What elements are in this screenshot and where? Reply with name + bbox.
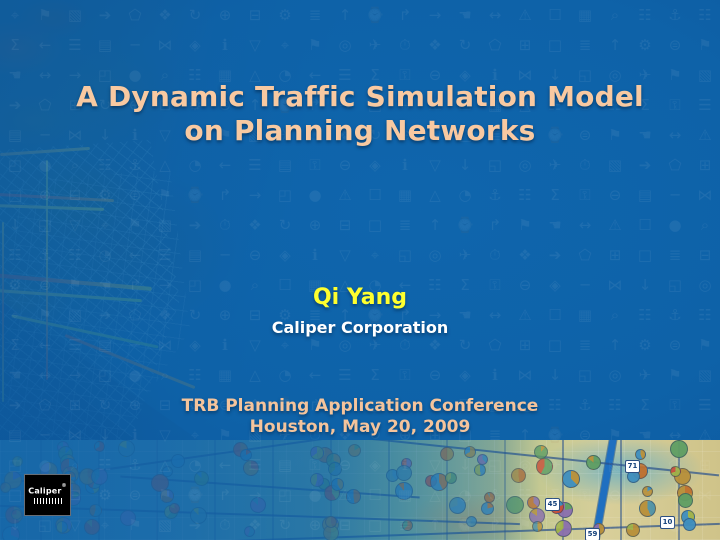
- title-line-1: A Dynamic Traffic Simulation Model: [50, 80, 670, 114]
- conference-name: TRB Planning Application Conference: [60, 396, 660, 417]
- caliper-logo: Caliper®: [24, 474, 71, 516]
- highway-shield-marker: 10: [660, 516, 675, 529]
- blue-color-wash: [0, 0, 720, 440]
- presentation-title-slide: 71451059 ⌖⚑▧➔⬠❖↻⊕⊟⚙≣↑⌚↱→☚↔⚠☐▦⌕☷⚓☷Σ←☰▤─⋈◈…: [0, 0, 720, 540]
- blue-overlay-veil: [0, 440, 540, 540]
- road-segment-vertical: [620, 440, 622, 540]
- highway-shield-marker: 59: [585, 528, 600, 540]
- caliper-ruler-mark-icon: [34, 498, 62, 504]
- conference-info: TRB Planning Application Conference Hous…: [60, 396, 660, 438]
- trademark-symbol: ®: [62, 483, 67, 489]
- page-title: A Dynamic Traffic Simulation Model on Pl…: [50, 80, 670, 148]
- highway-shield-marker: 71: [625, 460, 640, 473]
- author-affiliation: Caliper Corporation: [60, 318, 660, 337]
- zone-pie-chart-symbol: [670, 440, 688, 458]
- zone-pie-chart-symbol: [635, 449, 646, 460]
- zone-pie-chart-symbol: [555, 520, 572, 537]
- zone-pie-chart-symbol: [626, 523, 640, 537]
- caliper-wordmark: Caliper®: [28, 486, 66, 496]
- caliper-wordmark-text: Caliper: [28, 487, 61, 496]
- zone-pie-chart-symbol: [639, 500, 656, 517]
- zone-pie-chart-symbol: [562, 470, 580, 488]
- zone-pie-chart-symbol: [670, 466, 681, 477]
- highway-shield-marker: 45: [545, 498, 560, 511]
- zone-pie-chart-symbol: [683, 518, 696, 531]
- zone-pie-chart-symbol: [586, 455, 601, 470]
- zone-pie-chart-symbol: [642, 486, 653, 497]
- zone-pie-chart-symbol: [678, 493, 693, 508]
- title-line-2: on Planning Networks: [50, 114, 670, 148]
- conference-location-date: Houston, May 20, 2009: [60, 417, 660, 438]
- author-name: Qi Yang: [60, 285, 660, 310]
